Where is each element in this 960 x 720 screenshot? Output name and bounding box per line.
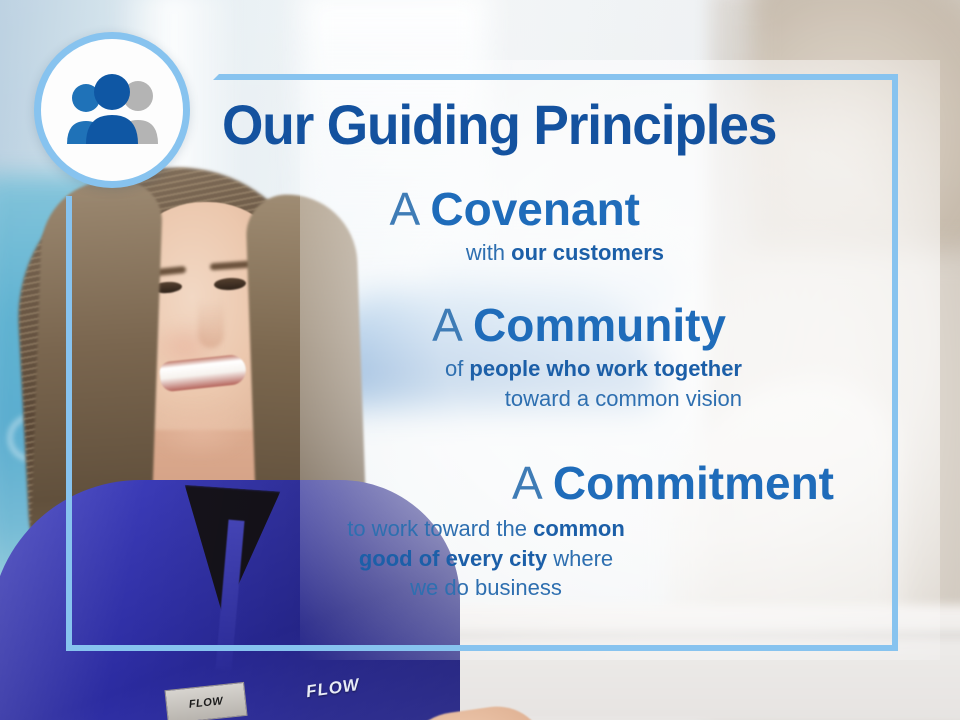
community-article: A: [432, 299, 460, 351]
principle-covenant: A Covenant with our customers: [0, 186, 672, 268]
covenant-article: A: [389, 183, 417, 235]
covenant-keyword: Covenant: [430, 183, 640, 235]
frame-border-top: [213, 74, 898, 80]
frame-border-bottom: [66, 645, 898, 651]
principle-covenant-subtext: with our customers: [0, 238, 672, 268]
commitment-article: A: [512, 457, 540, 509]
community-sub-line-1: of people who work together: [0, 354, 742, 384]
commitment-sub-line-2: good of every city where: [120, 544, 852, 574]
community-sub-line-2: toward a common vision: [0, 384, 742, 414]
commitment-sub-line-1: to work toward the common: [120, 514, 852, 544]
people-group-icon: [56, 74, 168, 146]
principle-community: A Community of people who work together …: [0, 302, 742, 413]
covenant-sub-line-1: with our customers: [0, 238, 664, 268]
commitment-sub2-bold: good of every city: [359, 546, 547, 571]
principle-commitment: A Commitment to work toward the common g…: [0, 460, 852, 603]
poster-canvas: FLOW FLOW Our Guiding Principles: [0, 0, 960, 720]
commitment-keyword: Commitment: [553, 457, 834, 509]
principle-community-subtext: of people who work together toward a com…: [0, 354, 742, 413]
commitment-sub1-bold: common: [533, 516, 625, 541]
principle-community-heading: A Community: [0, 302, 742, 350]
page-title: Our Guiding Principles: [222, 97, 849, 153]
community-sub1-plain: of: [445, 356, 469, 381]
people-icon-badge: [34, 32, 190, 188]
principle-covenant-heading: A Covenant: [0, 186, 672, 234]
covenant-sub-plain: with: [466, 240, 511, 265]
commitment-sub1-plain: to work toward the: [347, 516, 533, 541]
community-keyword: Community: [473, 299, 726, 351]
principle-commitment-subtext: to work toward the common good of every …: [0, 514, 852, 603]
frame-border-right: [892, 74, 898, 651]
community-sub1-bold: people who work together: [469, 356, 742, 381]
commitment-sub-line-3: we do business: [120, 573, 852, 603]
commitment-sub2-plain: where: [547, 546, 613, 571]
covenant-sub-bold: our customers: [511, 240, 664, 265]
principle-commitment-heading: A Commitment: [0, 460, 852, 508]
